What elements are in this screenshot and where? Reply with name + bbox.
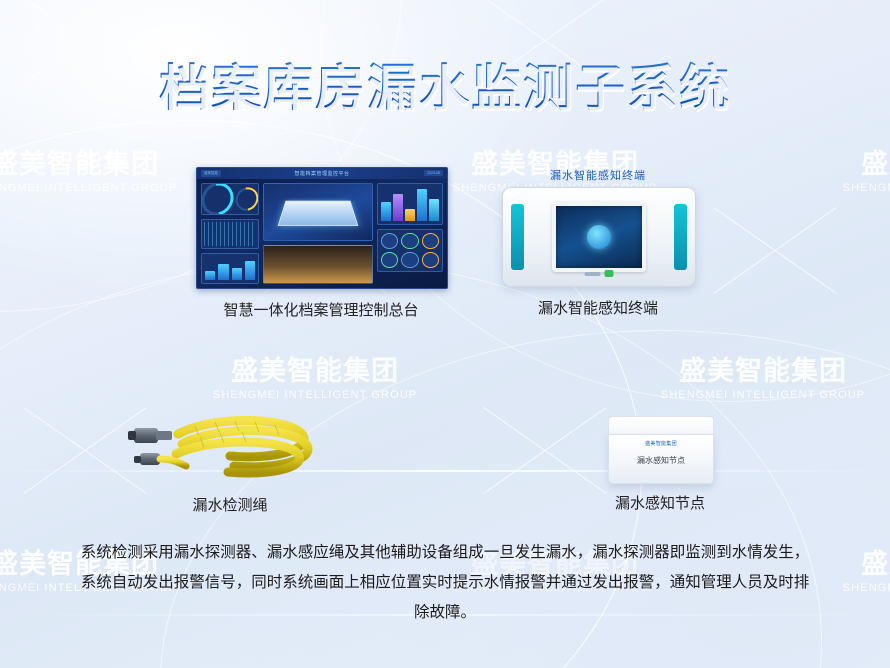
terminal-heading: 漏水智能感知终端 [502, 167, 694, 183]
bar [417, 189, 427, 221]
description-text: 系统检测采用漏水探测器、漏水感应绳及其他辅助设备组成一旦发生漏水，漏水探测器即监… [78, 538, 812, 628]
node-brand-logo: 盛美智能集团 [645, 440, 677, 447]
bar [232, 268, 242, 280]
watermark-en: SHENGMEI INTELLIGENT GROUP [0, 182, 190, 196]
terminal-side-panel-right [674, 204, 687, 270]
terminal-indicator-group [585, 270, 614, 277]
console-header-right: 2023-08 [424, 170, 443, 176]
mini-bar-chart-panel [201, 253, 259, 284]
leak-detection-cable-icon [120, 412, 340, 484]
bar [218, 264, 228, 280]
figure-cable: 漏水检测绳 [120, 412, 340, 515]
figure-caption-node: 漏水感知节点 [560, 492, 760, 513]
terminal-power-led-icon [605, 270, 614, 277]
status-dot-icon [401, 252, 418, 268]
watermark: 盛美智能集团 SHENGMEI INTELLIGENT GROUP [830, 148, 890, 196]
leak-sensor-node-device: 盛美智能集团 漏水感知节点 [608, 416, 712, 482]
decorative-cross-line [713, 207, 836, 294]
watermark: 盛美智能集团 SHENGMEI INTELLIGENT GROUP [648, 355, 878, 403]
watermark: 盛美智能集团 SHENGMEI INTELLIGENT GROUP [0, 148, 190, 196]
status-dot-icon [381, 252, 398, 268]
watermark-en: SHENGMEI INTELLIGENT GROUP [200, 389, 430, 403]
node-device-label: 漏水感知节点 [637, 455, 685, 466]
room-model-icon [278, 201, 359, 226]
bar-chart-panel [377, 183, 443, 225]
watermark: 盛美智能集团 SHENGMEI INTELLIGENT GROUP [830, 548, 890, 596]
terminal-label-strip [585, 272, 601, 276]
bar [405, 209, 415, 221]
console-header-title: 智能档案管理监控平台 [294, 170, 349, 177]
status-dot-icon [381, 233, 398, 249]
watermark-cn: 盛美智能集团 [0, 148, 190, 182]
status-dot-icon [401, 233, 418, 249]
watermark-en: SHENGMEI INTELLIGENT GROUP [830, 182, 890, 196]
gauge-ring-small-icon [231, 183, 259, 215]
console-body [197, 179, 447, 288]
watermark-cn: 盛美智能集团 [648, 355, 878, 389]
console-center-column [263, 183, 373, 284]
archive-room-3d-panel [263, 183, 373, 241]
console-left-column [201, 183, 259, 284]
console-header-left: 盛美智能 [201, 170, 221, 177]
watermark: 盛美智能集团 SHENGMEI INTELLIGENT GROUP [200, 355, 430, 403]
page-title: 档案库房漏水监测子系统 [0, 48, 890, 120]
figure-caption-cable: 漏水检测绳 [120, 494, 340, 515]
watermark-cn: 盛美智能集团 [830, 548, 890, 582]
bar [429, 199, 439, 221]
figure-terminal: 漏水智能感知终端 漏水智能感知终端 [502, 167, 694, 318]
figure-node: 盛美智能集团 漏水感知节点 漏水感知节点 [560, 398, 760, 513]
bar [245, 261, 255, 280]
watermark-cn: 盛美智能集团 [200, 355, 430, 389]
bar [381, 202, 391, 221]
waveform-panel [201, 219, 259, 249]
gauge-panel [201, 183, 259, 215]
console-header-bar: 盛美智能 智能档案管理监控平台 2023-08 [197, 168, 447, 179]
node-front-face: 盛美智能集团 漏水感知节点 [608, 434, 714, 484]
figure-caption-console: 智慧一体化档案管理控制总台 [196, 299, 446, 320]
status-dot-icon [422, 233, 439, 249]
camera-photo-panel [263, 245, 373, 284]
waveform-icon [204, 222, 256, 246]
bar [393, 194, 403, 221]
figure-console: 盛美智能 智能档案管理监控平台 2023-08 [196, 167, 446, 320]
figure-caption-terminal: 漏水智能感知终端 [502, 297, 694, 318]
terminal-display [552, 202, 646, 272]
watermark-en: SHENGMEI INTELLIGENT GROUP [830, 582, 890, 596]
bar [205, 271, 215, 280]
console-screenshot: 盛美智能 智能档案管理监控平台 2023-08 [196, 167, 448, 289]
decorative-cross-line [713, 207, 836, 294]
status-indicator-panel [377, 229, 443, 272]
console-right-column [377, 183, 443, 284]
water-drop-icon [587, 225, 611, 249]
gauge-ring-icon [201, 183, 240, 215]
watermark-cn: 盛美智能集团 [830, 148, 890, 182]
terminal-side-panel-left [511, 204, 524, 270]
status-dot-icon [422, 252, 439, 268]
terminal-device [502, 187, 696, 287]
slide-page: 盛美智能集团 SHENGMEI INTELLIGENT GROUP 盛美智能集团… [0, 0, 890, 668]
